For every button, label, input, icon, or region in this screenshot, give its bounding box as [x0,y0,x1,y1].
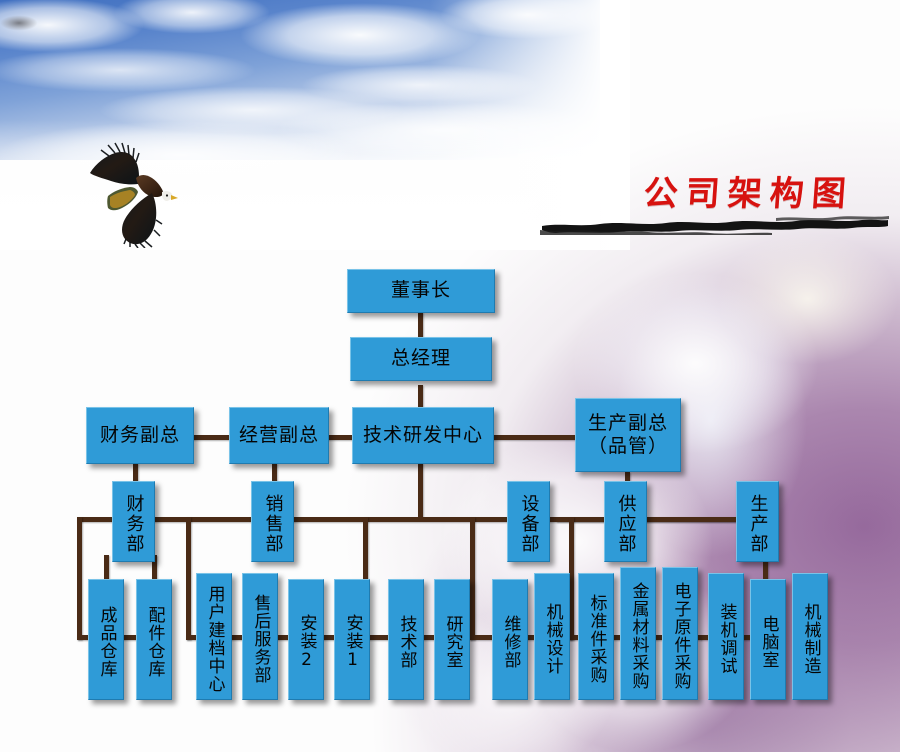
node-supply-dept[interactable]: 供应部 [604,481,647,562]
node-chairman[interactable]: 董事长 [347,269,495,313]
node-metal-material-purchasing[interactable]: 金属材料采购 [620,567,656,700]
node-equipment-dept[interactable]: 设备部 [507,481,550,562]
connector-l3-fin-ops [192,435,232,440]
node-assembly-testing[interactable]: 装机调试 [708,573,744,700]
stem-n12 [104,555,109,581]
node-after-sales-service-dept[interactable]: 售后服务部 [242,573,278,700]
node-production-vp[interactable]: 生产副总 （品管） [575,398,681,472]
node-tech-rd-center[interactable]: 技术研发中心 [352,407,494,464]
connector-tech-center-down [418,463,423,517]
connector-equip-drop [470,517,475,640]
node-finance-vp[interactable]: 财务副总 [86,407,194,464]
node-mechanical-manufacturing[interactable]: 机械制造 [792,573,828,700]
node-operations-vp[interactable]: 经营副总 [229,407,329,464]
node-standard-parts-purchasing[interactable]: 标准件采购 [578,573,614,700]
node-computer-room[interactable]: 电脑室 [750,579,786,700]
node-research-lab[interactable]: 研究室 [434,579,470,700]
connector-l3-tech-prod [492,435,577,440]
node-maintenance-dept[interactable]: 维修部 [492,579,528,700]
node-finished-goods-warehouse[interactable]: 成品仓库 [88,579,124,700]
node-sales-dept[interactable]: 销售部 [251,481,294,562]
connector-sales-drop [186,517,191,640]
connector-l3-ops-tech [327,435,355,440]
node-production-dept[interactable]: 生产部 [736,481,779,562]
connector-gm-down [418,385,423,407]
node-technical-dept[interactable]: 技术部 [388,579,424,700]
connector-chairman-gm [418,312,423,337]
node-electronic-components-purchasing[interactable]: 电子原件采购 [662,567,698,700]
node-general-manager[interactable]: 总经理 [350,337,492,381]
node-mechanical-design[interactable]: 机械设计 [534,573,570,700]
connector-finance-drop [77,517,82,640]
node-customer-records-center[interactable]: 用户建档中心 [196,573,232,700]
node-parts-warehouse[interactable]: 配件仓库 [136,579,172,700]
node-installation-2[interactable]: 安装2 [288,579,324,700]
node-installation-1[interactable]: 安装1 [334,579,370,700]
org-chart: 董事长 总经理 财务副总 经营副总 技术研发中心 生产副总 （品管） 财务部 销… [0,0,900,752]
org-chart-poster: 公司架构图 [0,0,900,752]
node-finance-dept[interactable]: 财务部 [112,481,155,562]
